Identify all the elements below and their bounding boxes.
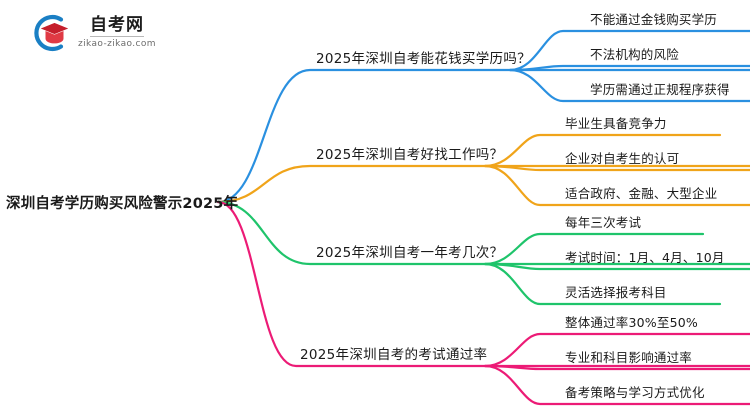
leaf-node-2-2[interactable]: 企业对自考生的认可 — [565, 148, 679, 167]
leaf-node-1-3[interactable]: 学历需通过正规程序获得 — [590, 79, 730, 98]
leaf-node-1-1[interactable]: 不能通过金钱购买学历 — [590, 9, 717, 28]
site-logo: 自考网 zikao-zikao.com — [28, 12, 156, 54]
branch-node-2[interactable]: 2025年深圳自考好找工作吗？ — [316, 143, 503, 163]
root-node[interactable]: 深圳自考学历购买风险警示2025年 — [6, 192, 238, 213]
leaf-node-4-3[interactable]: 备考策略与学习方式优化 — [565, 382, 705, 401]
leaf-node-4-2[interactable]: 专业和科目影响通过率 — [565, 347, 692, 366]
leaf-node-4-1[interactable]: 整体通过率30%至50% — [565, 312, 698, 331]
logo-domain: zikao-zikao.com — [78, 37, 156, 49]
logo-title: 自考网 — [90, 17, 144, 37]
leaf-node-2-3[interactable]: 适合政府、金融、大型企业 — [565, 183, 717, 202]
branch-node-3[interactable]: 2025年深圳自考一年考几次？ — [316, 241, 503, 261]
leaf-node-1-2[interactable]: 不法机构的风险 — [590, 44, 679, 63]
branch-node-4[interactable]: 2025年深圳自考的考试通过率 — [300, 343, 487, 363]
graduation-cap-icon — [28, 12, 70, 54]
leaf-node-2-1[interactable]: 毕业生具备竞争力 — [565, 113, 667, 132]
branch-node-1[interactable]: 2025年深圳自考能花钱买学历吗？ — [316, 47, 531, 67]
leaf-node-3-2[interactable]: 考试时间：1月、4月、10月 — [565, 247, 725, 266]
leaf-node-3-3[interactable]: 灵活选择报考科目 — [565, 282, 667, 301]
leaf-node-3-1[interactable]: 每年三次考试 — [565, 212, 641, 231]
mindmap-canvas: 自考网 zikao-zikao.com 深圳自考学历购买风险警示2025年 20… — [0, 0, 750, 410]
